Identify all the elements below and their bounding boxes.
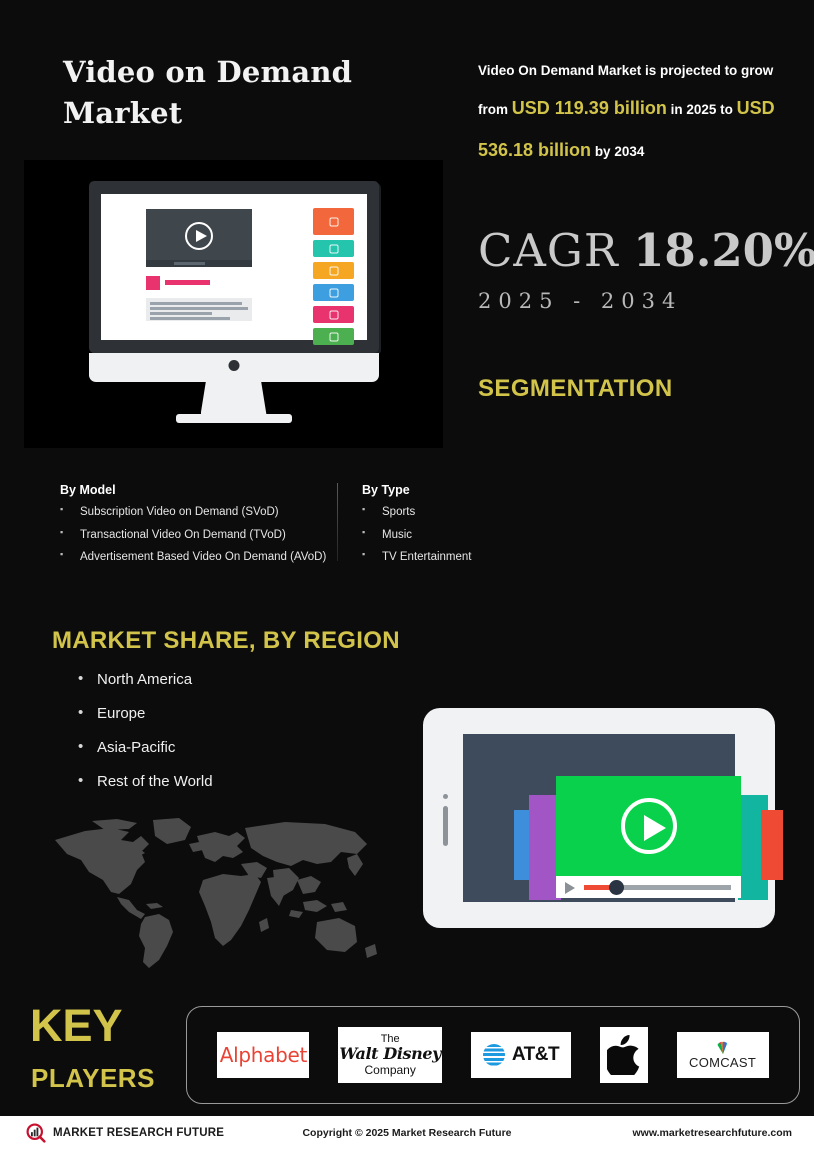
video-controls-bar bbox=[556, 876, 741, 898]
list-item: Advertisement Based Video On Demand (AVo… bbox=[60, 551, 350, 564]
key-players-box: Alphabet The Walt Disney Company AT&T bbox=[186, 1006, 800, 1104]
progress-knob bbox=[609, 880, 624, 895]
blurb-tail: by 2034 bbox=[595, 144, 645, 159]
monitor-frame bbox=[89, 181, 379, 353]
cagr-label: CAGR bbox=[478, 224, 619, 277]
blurb-mid: in 2025 to bbox=[671, 102, 733, 117]
blurb-lead: Video On Demand Market is projected to g… bbox=[478, 63, 773, 78]
text-placeholder-block bbox=[146, 298, 252, 321]
monitor-screen bbox=[101, 194, 367, 340]
market-share-region-list: North America Europe Asia-Pacific Rest o… bbox=[78, 671, 213, 807]
key-players-label-bottom: PLAYERS bbox=[31, 1063, 155, 1094]
infographic-page: Video on Demand Market Video On Demand M… bbox=[0, 0, 814, 1150]
video-thumbnail bbox=[146, 209, 252, 267]
logo-disney-line2: Walt Disney bbox=[339, 1045, 441, 1063]
accent-square bbox=[146, 276, 160, 290]
logo-row: Alphabet The Walt Disney Company AT&T bbox=[187, 1007, 799, 1103]
logo-apple bbox=[600, 1027, 648, 1083]
speaker-icon bbox=[443, 806, 448, 846]
column-title: By Model bbox=[60, 483, 350, 497]
logo-att: AT&T bbox=[471, 1032, 571, 1078]
logo-walt-disney: The Walt Disney Company bbox=[338, 1027, 442, 1083]
list-item: Asia-Pacific bbox=[78, 739, 213, 756]
monitor-stand bbox=[201, 382, 267, 415]
segmentation-column-by-model: By Model Subscription Video on Demand (S… bbox=[60, 483, 350, 574]
nbc-peacock-icon bbox=[713, 1041, 733, 1054]
att-globe-icon bbox=[483, 1044, 505, 1066]
camera-icon bbox=[443, 794, 448, 799]
footer-brand: MARKET RESEARCH FUTURE bbox=[26, 1123, 224, 1143]
footer-copyright: Copyright © 2025 Market Research Future bbox=[302, 1127, 511, 1139]
market-research-future-logo-icon bbox=[26, 1123, 46, 1143]
logo-comcast-text: COMCAST bbox=[689, 1055, 756, 1070]
card-red bbox=[761, 810, 783, 880]
tablet-illustration bbox=[415, 698, 783, 937]
side-button-pink bbox=[313, 306, 354, 323]
list-item: Music bbox=[362, 529, 562, 542]
column-title: By Type bbox=[362, 483, 562, 497]
segmentation-heading: SEGMENTATION bbox=[478, 375, 673, 403]
logo-disney-line1: The bbox=[381, 1033, 400, 1045]
play-icon bbox=[621, 798, 677, 854]
world-map-illustration bbox=[45, 818, 385, 970]
monitor-base bbox=[176, 414, 292, 423]
side-button-green bbox=[313, 328, 354, 345]
segmentation-column-by-type: By Type Sports Music TV Entertainment bbox=[362, 483, 562, 574]
cagr-value: 18.20% bbox=[633, 224, 814, 277]
list-item: Transactional Video On Demand (TVoD) bbox=[60, 529, 350, 542]
video-progress-bar bbox=[146, 260, 252, 267]
market-projection-blurb: Video On Demand Market is projected to g… bbox=[478, 55, 778, 171]
side-button-amber bbox=[313, 262, 354, 279]
footer-brand-text: MARKET RESEARCH FUTURE bbox=[53, 1127, 224, 1139]
key-players-label-top: KEY bbox=[30, 1005, 123, 1048]
blurb-from: from bbox=[478, 102, 508, 117]
video-card-green bbox=[556, 776, 741, 876]
list-item: Rest of the World bbox=[78, 773, 213, 790]
cagr-years: 2025 - 2034 bbox=[478, 289, 814, 313]
side-button-blue bbox=[313, 284, 354, 301]
tablet-screen bbox=[463, 734, 735, 902]
list-item: Sports bbox=[362, 506, 562, 519]
logo-disney-line3: Company bbox=[365, 1063, 416, 1077]
accent-line bbox=[165, 280, 210, 285]
sidebar-buttons bbox=[313, 208, 354, 350]
list-item: TV Entertainment bbox=[362, 551, 562, 564]
monitor-power-dot bbox=[228, 360, 239, 371]
play-triangle-icon bbox=[565, 882, 575, 894]
side-button-orange bbox=[313, 208, 354, 235]
footer: MARKET RESEARCH FUTURE Copyright © 2025 … bbox=[0, 1116, 814, 1150]
page-title: Video on Demand Market bbox=[63, 52, 443, 134]
tablet-frame bbox=[423, 708, 775, 928]
cagr-block: CAGR 18.20% 2025 - 2034 bbox=[478, 228, 814, 313]
list-item: North America bbox=[78, 671, 213, 688]
list-item: Subscription Video on Demand (SVoD) bbox=[60, 506, 350, 519]
logo-alphabet: Alphabet bbox=[217, 1032, 309, 1078]
world-map-icon bbox=[45, 818, 385, 970]
logo-att-text: AT&T bbox=[512, 1044, 559, 1066]
market-share-heading: MARKET SHARE, BY REGION bbox=[52, 627, 400, 655]
logo-comcast: COMCAST bbox=[677, 1032, 769, 1078]
logo-alphabet-text: Alphabet bbox=[220, 1043, 307, 1067]
footer-url[interactable]: www.marketresearchfuture.com bbox=[632, 1127, 792, 1139]
apple-icon bbox=[607, 1035, 641, 1075]
list-item: Europe bbox=[78, 705, 213, 722]
play-icon bbox=[185, 222, 213, 250]
side-button-teal bbox=[313, 240, 354, 257]
desktop-monitor-illustration bbox=[24, 160, 443, 448]
blurb-value-2025: USD 119.39 billion bbox=[512, 98, 667, 118]
